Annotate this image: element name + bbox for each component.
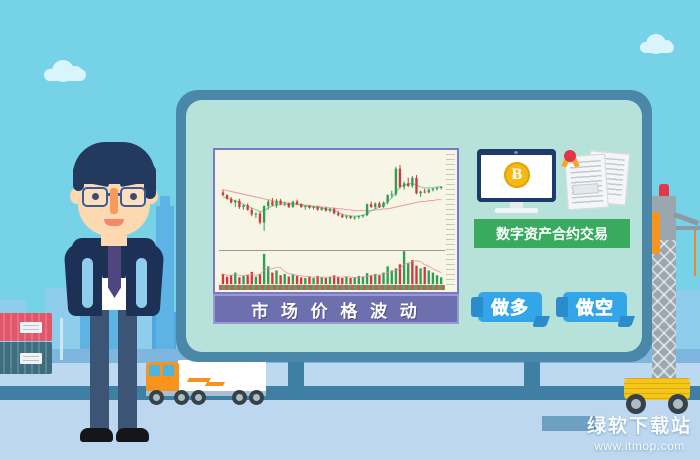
contract-document-front xyxy=(564,154,609,211)
building-tower-cap xyxy=(160,196,170,210)
leg-right xyxy=(118,300,137,436)
nose xyxy=(110,188,118,214)
monitor-camera-dot xyxy=(514,151,518,154)
illustration-scene: 市 场 价 格 波 动 Ƀ 数字资产合约交易 做多 做空 xyxy=(0,0,700,459)
truck-wheel xyxy=(249,390,264,405)
truck-wheel xyxy=(174,390,189,405)
container-label xyxy=(20,353,42,364)
monitor-stand xyxy=(495,208,538,213)
document-table-block xyxy=(572,183,599,195)
crane-jib-truss xyxy=(676,226,700,230)
truck-chassis xyxy=(146,391,266,396)
go-short-button[interactable]: 做空 xyxy=(563,292,627,322)
truck-cab xyxy=(146,362,179,393)
shoe-left xyxy=(80,428,113,442)
watermark: 绿软下载站 www.itmop.com xyxy=(587,411,692,453)
green-banner: 数字资产合约交易 xyxy=(474,219,630,248)
red-seal-icon xyxy=(564,150,576,162)
button-left-tab xyxy=(471,297,483,317)
shoe-right xyxy=(116,428,149,442)
truck-wheel xyxy=(232,390,247,405)
button-left-tab xyxy=(556,297,568,317)
truck-wheel xyxy=(191,390,206,405)
chart-separator-line xyxy=(219,250,445,251)
arm-gap-right xyxy=(136,258,147,308)
chart-title-text: 市 场 价 格 波 动 xyxy=(251,297,421,322)
chart-bottom-ticker-strip xyxy=(219,285,445,290)
shipping-container-red xyxy=(0,313,52,341)
bitcoin-icon: Ƀ xyxy=(504,162,530,188)
truck-wheel xyxy=(149,390,164,405)
truck-trailer xyxy=(178,360,266,393)
green-banner-text: 数字资产合约交易 xyxy=(496,224,608,244)
crane-lattice xyxy=(652,240,676,386)
truck-stripe xyxy=(205,382,225,386)
candlestick-chart xyxy=(215,150,457,292)
truck-window xyxy=(163,365,174,376)
shipping-container-teal xyxy=(0,342,52,374)
bitcoin-symbol: Ƀ xyxy=(512,167,523,183)
go-long-button[interactable]: 做多 xyxy=(478,292,542,322)
light-pole xyxy=(60,318,63,360)
chart-price-axis xyxy=(446,154,455,288)
crane-warning-light xyxy=(659,184,669,196)
cloud-icon-right xyxy=(640,42,674,53)
eye-right xyxy=(130,193,137,200)
arm-gap-left xyxy=(82,258,93,308)
cloud-icon-left xyxy=(44,69,86,81)
leg-left xyxy=(90,300,109,436)
go-long-label: 做多 xyxy=(491,294,529,320)
chart-title-banner: 市 场 价 格 波 动 xyxy=(213,294,459,324)
watermark-url: www.itmop.com xyxy=(587,439,692,453)
watermark-site-name: 绿软下载站 xyxy=(587,411,692,438)
hair xyxy=(73,142,155,184)
stock-chart-panel xyxy=(213,148,459,294)
crane-hook-line xyxy=(694,230,696,276)
go-short-label: 做空 xyxy=(576,294,614,320)
eye-left xyxy=(92,193,99,200)
truck-window xyxy=(149,365,160,376)
hair-side-left xyxy=(73,165,84,191)
container-label xyxy=(20,322,42,333)
